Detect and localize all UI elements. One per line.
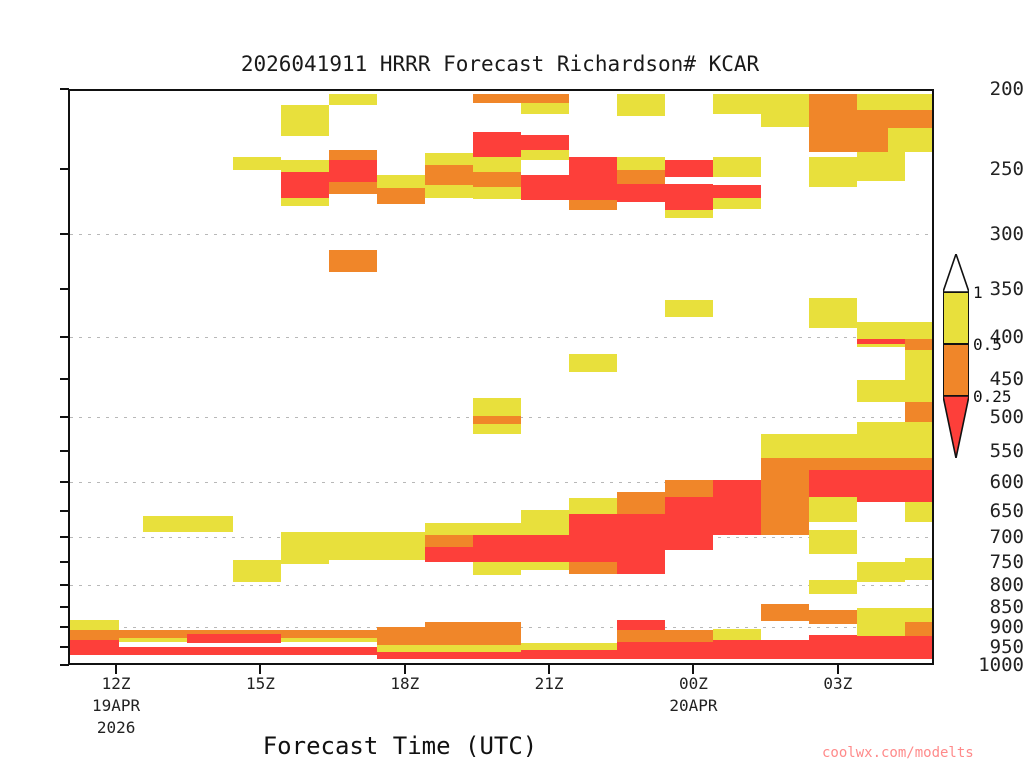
y-tick-label: 650: [962, 500, 1024, 522]
x-axis-title: Forecast Time (UTC): [0, 732, 800, 760]
y-tick-label: 550: [962, 440, 1024, 462]
y-tick-label: 250: [962, 158, 1024, 180]
x-tick-label: 18Z: [390, 674, 419, 693]
x-tick-label: 00Z: [679, 674, 708, 693]
colorbar-tick-label: 0.25: [973, 387, 1012, 406]
x-tick-mark: [837, 665, 839, 674]
watermark-link[interactable]: coolwx.com/modelts: [822, 745, 974, 761]
x-tick-mark: [692, 665, 694, 674]
colorbar-legend[interactable]: 10.50.25: [943, 292, 969, 460]
y-tick-label: 800: [962, 574, 1024, 596]
y-tick-label: 350: [962, 278, 1024, 300]
y-tick-label: 300: [962, 223, 1024, 245]
y-tick-label: 200: [962, 78, 1024, 100]
x-tick-label: 21Z: [535, 674, 564, 693]
y-tick-label: 750: [962, 551, 1024, 573]
richardson-forecast-chart: 2026041911 HRRR Forecast Richardson# KCA…: [0, 0, 1024, 768]
y-tick-label: 600: [962, 471, 1024, 493]
y-tick-label: 700: [962, 526, 1024, 548]
x-tick-mark: [115, 665, 117, 674]
page-title: 2026041911 HRRR Forecast Richardson# KCA…: [0, 52, 1000, 76]
x-tick-sublabel-date: 19APR: [92, 696, 140, 715]
colorbar-cap-above: [943, 254, 969, 292]
plot-area: [68, 89, 934, 665]
colorbar-segment-orange: [943, 344, 969, 396]
x-tick-label: 15Z: [246, 674, 275, 693]
colorbar-tick-label: 1: [973, 283, 983, 302]
colorbar-tick-label: 0.5: [973, 335, 1002, 354]
y-tick-label: 500: [962, 406, 1024, 428]
colorbar-segment-yellow: [943, 292, 969, 344]
x-tick-mark: [548, 665, 550, 674]
x-tick-sublabel-date: 20APR: [669, 696, 717, 715]
x-tick-label: 03Z: [823, 674, 852, 693]
y-tick-label: 850: [962, 596, 1024, 618]
x-tick-mark: [259, 665, 261, 674]
x-tick-label: 12Z: [102, 674, 131, 693]
x-tick-mark: [404, 665, 406, 674]
colorbar-cap-below: [943, 396, 969, 458]
ground-layer: [70, 91, 932, 663]
y-tick-label: 1000: [962, 654, 1024, 676]
